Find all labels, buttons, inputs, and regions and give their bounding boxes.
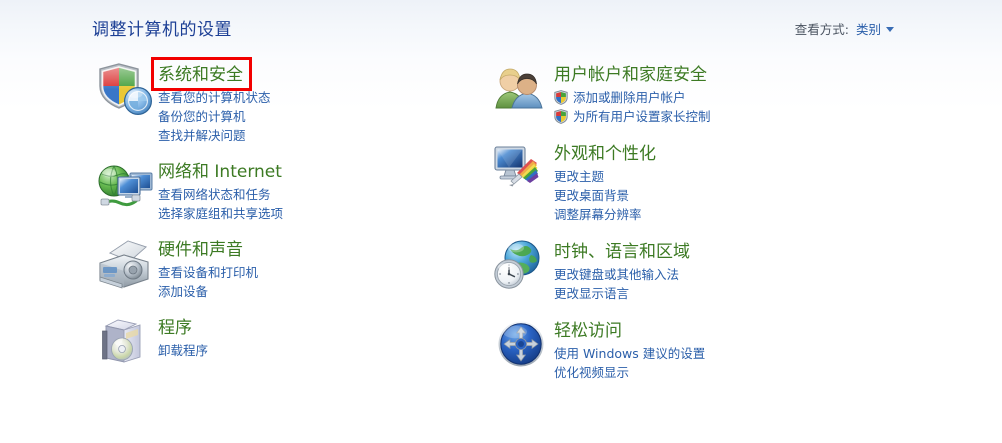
link-optimize-visual-display[interactable]: 优化视频显示 bbox=[554, 363, 705, 382]
link-use-windows-suggested-settings[interactable]: 使用 Windows 建议的设置 bbox=[554, 344, 705, 363]
link-change-theme[interactable]: 更改主题 bbox=[554, 167, 656, 186]
category-appearance-and-personalization[interactable]: 外观和个性化 更改主题 更改桌面背景 调整屏幕分辨率 bbox=[492, 139, 892, 224]
software-box-icon bbox=[96, 313, 158, 371]
link-change-keyboards-or-input-methods[interactable]: 更改键盘或其他输入法 bbox=[554, 265, 690, 284]
category-links: 使用 Windows 建议的设置 优化视频显示 bbox=[554, 344, 705, 382]
printer-icon bbox=[96, 235, 158, 293]
link-homegroup-sharing-options[interactable]: 选择家庭组和共享选项 bbox=[158, 204, 283, 223]
view-by-label: 查看方式: bbox=[795, 19, 849, 38]
view-by-control[interactable]: 查看方式: 类别 bbox=[795, 19, 894, 38]
category-links: 添加或删除用户帐户 bbox=[554, 88, 711, 126]
category-links: 查看您的计算机状态 备份您的计算机 查找并解决问题 bbox=[158, 88, 271, 145]
link-set-up-parental-controls[interactable]: 为所有用户设置家长控制 bbox=[554, 107, 711, 126]
category-title-appearance-and-personalization[interactable]: 外观和个性化 bbox=[554, 143, 656, 165]
link-find-and-fix-problems[interactable]: 查找并解决问题 bbox=[158, 126, 271, 145]
link-label: 为所有用户设置家长控制 bbox=[573, 107, 711, 126]
category-body: 轻松访问 使用 Windows 建议的设置 优化视频显示 bbox=[554, 316, 705, 382]
link-change-desktop-background[interactable]: 更改桌面背景 bbox=[554, 186, 656, 205]
ease-of-access-icon bbox=[492, 316, 554, 374]
category-hardware-and-sound[interactable]: 硬件和声音 查看设备和打印机 添加设备 bbox=[96, 235, 486, 301]
link-uninstall-program[interactable]: 卸载程序 bbox=[158, 341, 208, 360]
category-body: 程序 卸载程序 bbox=[158, 313, 208, 360]
link-change-display-language[interactable]: 更改显示语言 bbox=[554, 284, 690, 303]
right-column: 用户帐户和家庭安全 bbox=[492, 58, 892, 388]
category-body: 系统和安全 查看您的计算机状态 备份您的计算机 查找并解决问题 bbox=[158, 60, 271, 145]
category-programs[interactable]: 程序 卸载程序 bbox=[96, 313, 486, 371]
link-view-devices-and-printers[interactable]: 查看设备和打印机 bbox=[158, 263, 258, 282]
left-column: 系统和安全 查看您的计算机状态 备份您的计算机 查找并解决问题 bbox=[96, 58, 486, 377]
network-globe-icon bbox=[96, 157, 158, 215]
category-title-user-accounts-and-family-safety[interactable]: 用户帐户和家庭安全 bbox=[554, 64, 707, 86]
link-view-computer-status[interactable]: 查看您的计算机状态 bbox=[158, 88, 271, 107]
category-system-and-security[interactable]: 系统和安全 查看您的计算机状态 备份您的计算机 查找并解决问题 bbox=[96, 60, 486, 145]
security-shield-icon bbox=[96, 60, 158, 118]
category-links: 更改键盘或其他输入法 更改显示语言 bbox=[554, 265, 690, 303]
link-backup-computer[interactable]: 备份您的计算机 bbox=[158, 107, 271, 126]
link-add-device[interactable]: 添加设备 bbox=[158, 282, 258, 301]
category-links: 卸载程序 bbox=[158, 341, 208, 360]
link-add-or-remove-user-accounts[interactable]: 添加或删除用户帐户 bbox=[554, 88, 711, 107]
monitor-palette-icon bbox=[492, 139, 554, 197]
category-body: 时钟、语言和区域 更改键盘或其他输入法 更改显示语言 bbox=[554, 237, 690, 303]
category-body: 用户帐户和家庭安全 bbox=[554, 60, 711, 126]
category-network-and-internet[interactable]: 网络和 Internet 查看网络状态和任务 选择家庭组和共享选项 bbox=[96, 157, 486, 223]
users-icon bbox=[492, 60, 554, 118]
uac-shield-icon bbox=[554, 109, 568, 124]
link-view-network-status[interactable]: 查看网络状态和任务 bbox=[158, 185, 283, 204]
view-by-value[interactable]: 类别 bbox=[856, 19, 881, 38]
link-label: 添加或删除用户帐户 bbox=[573, 88, 686, 107]
category-body: 硬件和声音 查看设备和打印机 添加设备 bbox=[158, 235, 258, 301]
uac-shield-icon bbox=[554, 90, 568, 105]
category-body: 外观和个性化 更改主题 更改桌面背景 调整屏幕分辨率 bbox=[554, 139, 656, 224]
chevron-down-icon[interactable] bbox=[886, 27, 894, 32]
category-links: 更改主题 更改桌面背景 调整屏幕分辨率 bbox=[554, 167, 656, 224]
control-panel-page: 调整计算机的设置 查看方式: 类别 bbox=[0, 0, 1002, 443]
category-links: 查看网络状态和任务 选择家庭组和共享选项 bbox=[158, 185, 283, 223]
category-title-clock-language-and-region[interactable]: 时钟、语言和区域 bbox=[554, 241, 690, 263]
category-title-system-and-security[interactable]: 系统和安全 bbox=[158, 64, 243, 86]
category-user-accounts-and-family-safety[interactable]: 用户帐户和家庭安全 bbox=[492, 60, 892, 126]
link-adjust-screen-resolution[interactable]: 调整屏幕分辨率 bbox=[554, 205, 656, 224]
category-title-hardware-and-sound[interactable]: 硬件和声音 bbox=[158, 239, 243, 261]
category-clock-language-and-region[interactable]: 时钟、语言和区域 更改键盘或其他输入法 更改显示语言 bbox=[492, 237, 892, 303]
category-title-programs[interactable]: 程序 bbox=[158, 317, 192, 339]
category-title-network-and-internet[interactable]: 网络和 Internet bbox=[158, 161, 282, 183]
globe-clock-icon bbox=[492, 237, 554, 295]
category-body: 网络和 Internet 查看网络状态和任务 选择家庭组和共享选项 bbox=[158, 157, 283, 223]
category-title-ease-of-access[interactable]: 轻松访问 bbox=[554, 320, 622, 342]
page-header: 调整计算机的设置 查看方式: 类别 bbox=[0, 0, 1002, 54]
category-links: 查看设备和打印机 添加设备 bbox=[158, 263, 258, 301]
category-ease-of-access[interactable]: 轻松访问 使用 Windows 建议的设置 优化视频显示 bbox=[492, 316, 892, 382]
page-title: 调整计算机的设置 bbox=[92, 15, 232, 40]
